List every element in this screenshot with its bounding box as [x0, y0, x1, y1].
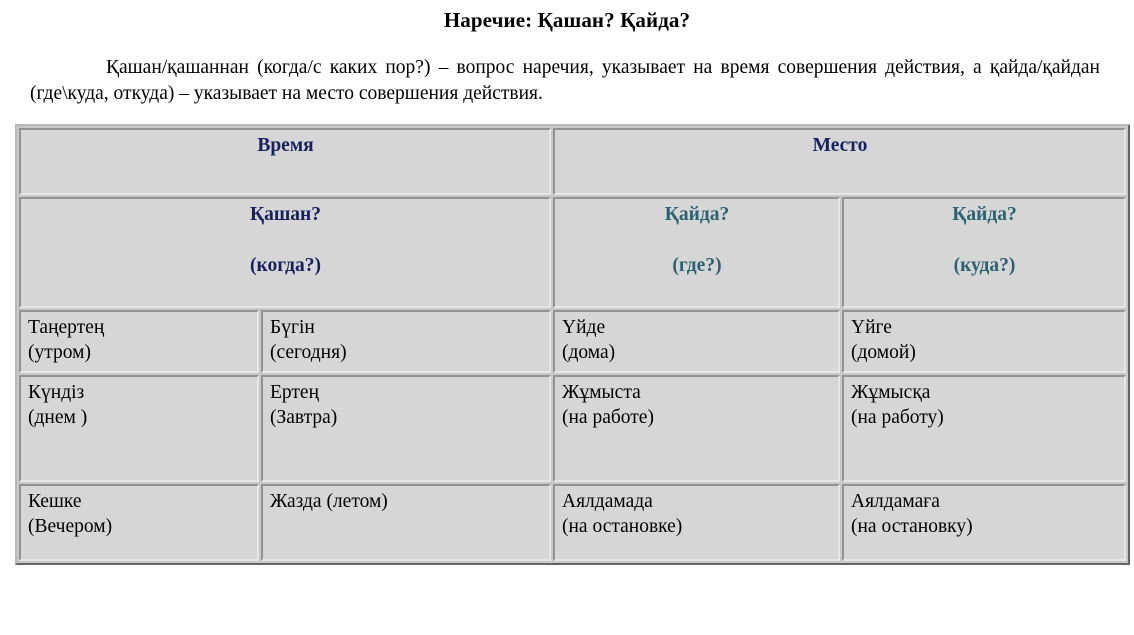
cell-russian: (Завтра)	[270, 405, 543, 430]
adverbs-table-wrapper: Время Место Қашан? (когда?) Қайда? (где?…	[15, 124, 1120, 565]
cell-kazakh: Кешке	[28, 489, 251, 514]
table-cell: Кешке (Вечером)	[19, 484, 259, 561]
cell-russian: (на остановке)	[562, 514, 832, 539]
cell-russian: (на работе)	[562, 405, 832, 430]
sub-header-kashan: Қашан? (когда?)	[19, 197, 551, 308]
table-cell: Үйде (дома)	[553, 310, 840, 373]
table-row: Таңертең (утром) Бүгін (сегодня) Үйде (д…	[19, 310, 1126, 373]
document-page: Наречие: Қашан? Қайда? Қашан/қашаннан (к…	[0, 8, 1134, 635]
sub-header-kaida-where-question: Қайда?	[562, 202, 832, 227]
cell-russian: (на работу)	[851, 405, 1118, 430]
cell-russian: (домой)	[851, 340, 1118, 365]
sub-header-kaida-whereto-translation: (куда?)	[851, 253, 1118, 278]
cell-kazakh: Жұмысқа	[851, 380, 1118, 405]
sub-header-kashan-translation: (когда?)	[28, 253, 543, 278]
table-cell: Ертең (Завтра)	[261, 375, 551, 482]
table-cell: Үйге (домой)	[842, 310, 1126, 373]
intro-paragraph: Қашан/қашаннан (когда/с каких пор?) – во…	[16, 55, 1118, 107]
group-header-time: Время	[19, 128, 551, 195]
cell-kazakh: Күндіз	[28, 380, 251, 405]
page-title: Наречие: Қашан? Қайда?	[0, 8, 1134, 33]
table-cell: Жазда (летом)	[261, 484, 551, 561]
sub-header-kaida-where-translation: (где?)	[562, 253, 832, 278]
cell-russian: (на остановку)	[851, 514, 1118, 539]
sub-header-kaida-whereto: Қайда? (куда?)	[842, 197, 1126, 308]
cell-kazakh: Жұмыста	[562, 380, 832, 405]
sub-header-kaida-whereto-question: Қайда?	[851, 202, 1118, 227]
table-sub-header-row: Қашан? (когда?) Қайда? (где?) Қайда? (ку…	[19, 197, 1126, 308]
table-group-header-row: Время Место	[19, 128, 1126, 195]
table-cell: Күндіз (днем )	[19, 375, 259, 482]
cell-kazakh: Ертең	[270, 380, 543, 405]
cell-kazakh: Аялдамаға	[851, 489, 1118, 514]
table-row: Кешке (Вечером) Жазда (летом) Аялдамада …	[19, 484, 1126, 561]
cell-russian: (Вечером)	[28, 514, 251, 539]
cell-kazakh: Үйге	[851, 315, 1118, 340]
cell-kazakh: Аялдамада	[562, 489, 832, 514]
cell-kazakh: Үйде	[562, 315, 832, 340]
cell-russian: (сегодня)	[270, 340, 543, 365]
table-row: Күндіз (днем ) Ертең (Завтра) Жұмыста (н…	[19, 375, 1126, 482]
cell-kazakh: Таңертең	[28, 315, 251, 340]
cell-kazakh: Бүгін	[270, 315, 543, 340]
cell-kazakh: Жазда (летом)	[270, 489, 543, 514]
cell-russian: (утром)	[28, 340, 251, 365]
cell-russian: (дома)	[562, 340, 832, 365]
cell-russian: (днем )	[28, 405, 251, 430]
sub-header-kaida-where: Қайда? (где?)	[553, 197, 840, 308]
table-cell: Бүгін (сегодня)	[261, 310, 551, 373]
table-cell: Жұмысқа (на работу)	[842, 375, 1126, 482]
table-cell: Аялдамада (на остановке)	[553, 484, 840, 561]
table-cell: Аялдамаға (на остановку)	[842, 484, 1126, 561]
table-cell: Жұмыста (на работе)	[553, 375, 840, 482]
sub-header-kashan-question: Қашан?	[28, 202, 543, 227]
adverbs-table: Время Место Қашан? (когда?) Қайда? (где?…	[15, 124, 1130, 565]
table-cell: Таңертең (утром)	[19, 310, 259, 373]
group-header-place: Место	[553, 128, 1126, 195]
